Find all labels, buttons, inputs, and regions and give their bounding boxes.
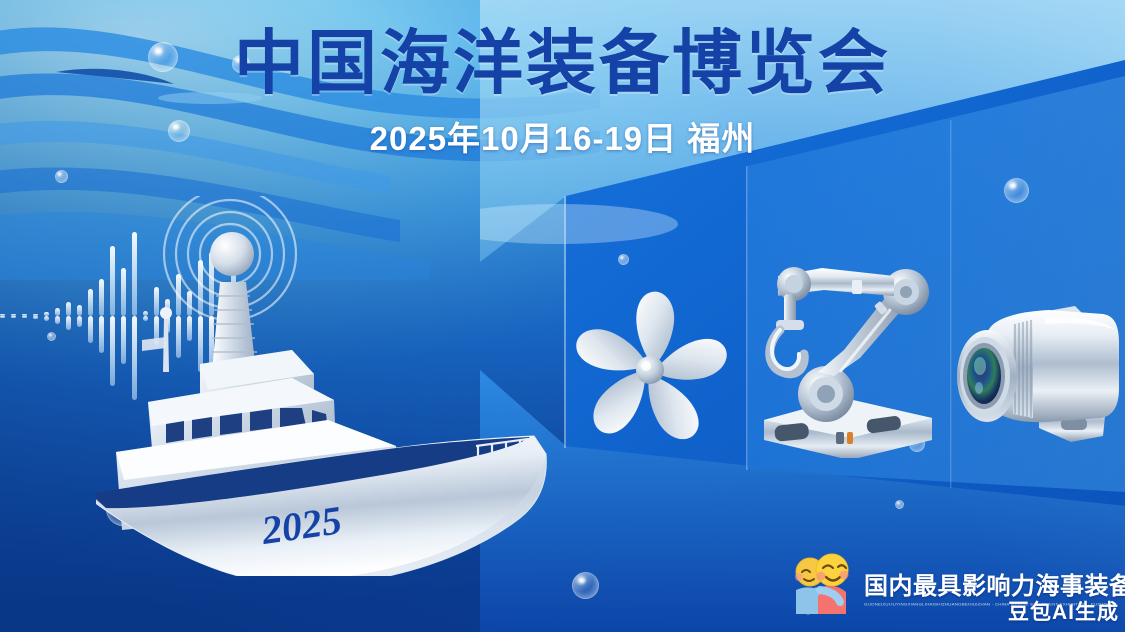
page-title: 中国海洋装备博览会 [0, 26, 1125, 102]
underwater-robotic-arm [748, 262, 948, 458]
bubble [1004, 178, 1029, 203]
underwater-camera [935, 296, 1125, 456]
bubble [572, 572, 599, 599]
ship-propeller [560, 285, 740, 455]
event-date-location: 2025年10月16-19日 福州 [0, 112, 1125, 160]
watermark-brand: 豆包AI生成 [1008, 596, 1119, 626]
title-block: 中国海洋装备博览会 2025年10月16-19日 福州 [0, 26, 1125, 160]
exhibition-poster: 2025 [0, 0, 1125, 632]
bubble [618, 254, 629, 265]
people-hugging-icon [786, 550, 860, 616]
bubble [55, 170, 68, 183]
research-vessel: 2025 [96, 196, 556, 576]
bubble [895, 500, 904, 509]
watermark: 国内最具影响力海事装备会展 GUONEIZUIJUYINGXIANGLIHAIS… [786, 546, 1125, 632]
bubble [47, 332, 56, 341]
